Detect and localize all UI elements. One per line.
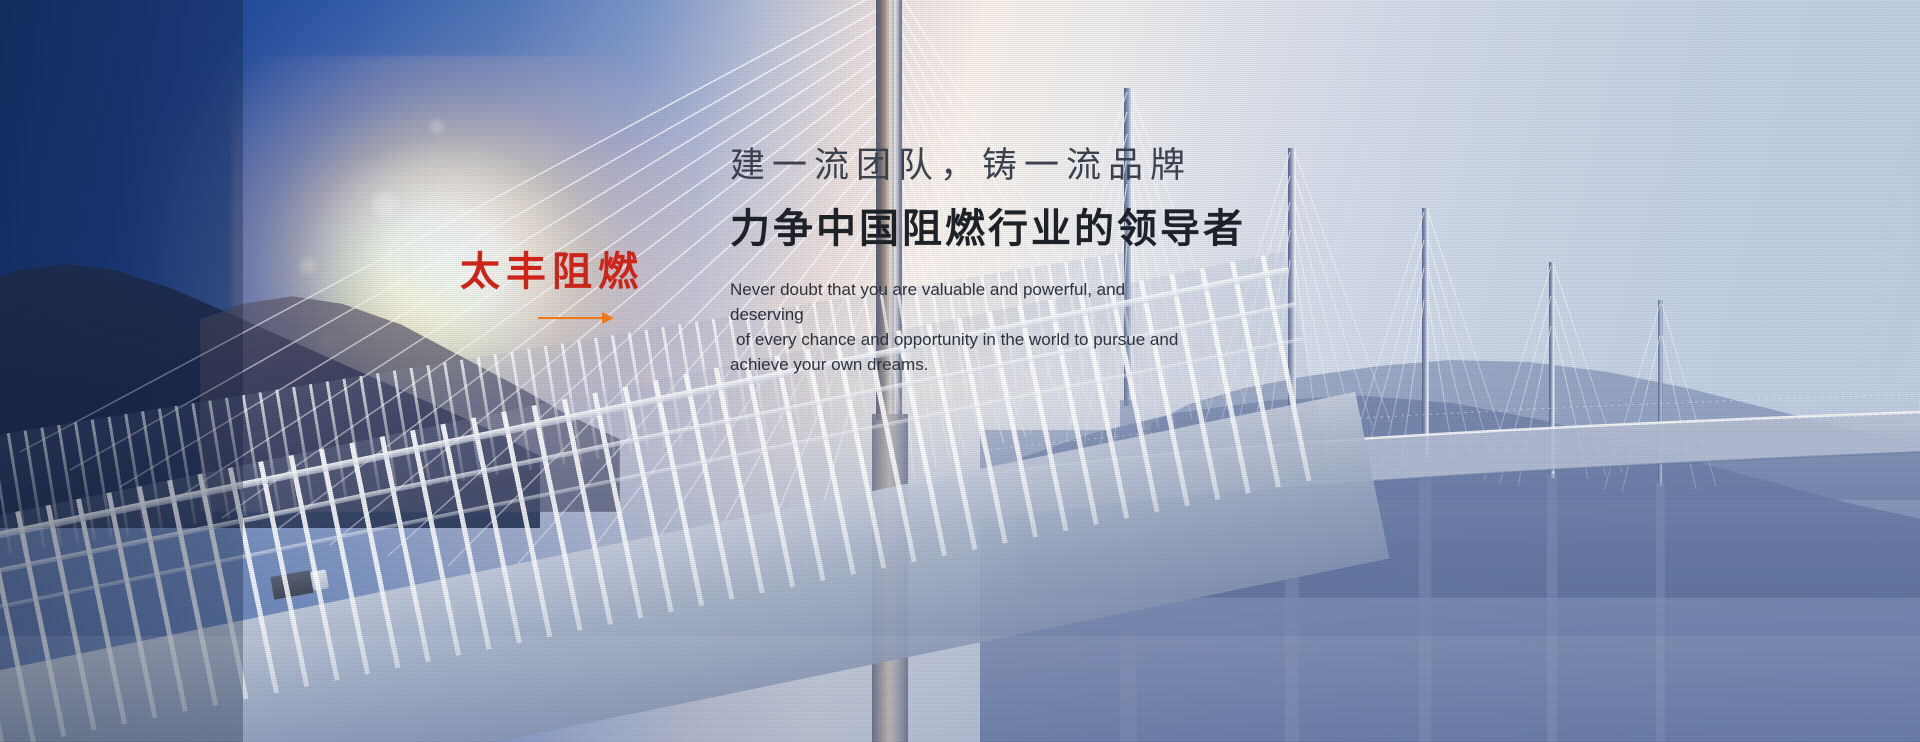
headline-secondary: 力争中国阻燃行业的领导者 [730, 209, 1350, 249]
paragraph-line-1: Never doubt that you are valuable and po… [730, 277, 1200, 327]
banner-content: 太丰阻燃 建一流团队，铸一流品牌 力争中国阻燃行业的领导者 Never doub… [0, 0, 1920, 742]
paragraph-line-3: achieve your own dreams. [730, 352, 1200, 377]
paragraph-line-2: of every chance and opportunity in the w… [730, 327, 1200, 352]
brand-logo[interactable]: 太丰阻燃 [460, 252, 690, 324]
brand-logo-text: 太丰阻燃 [460, 252, 690, 292]
headline-primary: 建一流团队，铸一流品牌 [730, 148, 1350, 183]
arrow-right-icon [538, 312, 614, 324]
banner-paragraph: Never doubt that you are valuable and po… [730, 277, 1200, 377]
hero-banner: 太丰阻燃 建一流团队，铸一流品牌 力争中国阻燃行业的领导者 Never doub… [0, 0, 1920, 742]
arrow-head [602, 312, 614, 324]
arrow-shaft [538, 317, 604, 319]
banner-copy: 建一流团队，铸一流品牌 力争中国阻燃行业的领导者 Never doubt tha… [730, 148, 1350, 377]
